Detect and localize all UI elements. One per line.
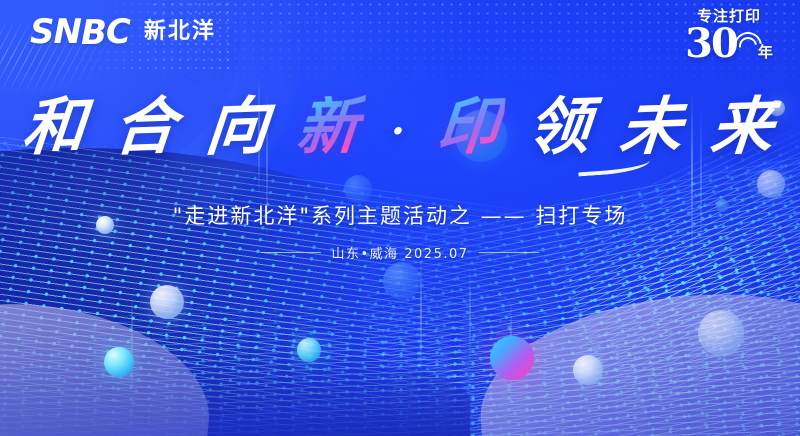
decorative-sphere bbox=[383, 262, 421, 300]
logo-text-b: B bbox=[81, 16, 106, 50]
anniversary-badge: 专注打印 30 年 bbox=[674, 8, 784, 64]
decorative-sphere-gradient bbox=[490, 336, 534, 380]
title-separator: · bbox=[391, 112, 409, 152]
event-banner: SNBC 新北洋 专注打印 30 年 和 合 向 新 · 印 领 未 来 "走进… bbox=[0, 0, 800, 436]
title-char-7: 未 bbox=[617, 95, 689, 159]
title-char-3: 向 bbox=[203, 95, 275, 159]
main-title-block: 和 合 向 新 · 印 领 未 来 bbox=[0, 96, 800, 158]
title-char-8: 来 bbox=[709, 95, 781, 159]
title-char-1: 和 bbox=[20, 95, 92, 159]
event-location-date: 山东•威海 2025.07 bbox=[331, 243, 468, 262]
brand-logo[interactable]: SNBC 新北洋 bbox=[30, 15, 216, 49]
title-char-6: 领 bbox=[525, 95, 597, 159]
badge-number: 30 bbox=[685, 24, 737, 64]
decorative-sphere bbox=[573, 355, 603, 385]
title-char-4: 新 bbox=[295, 95, 367, 159]
meta-rule-right bbox=[479, 252, 539, 253]
decorative-sphere bbox=[297, 338, 321, 362]
brand-chinese-name: 新北洋 bbox=[144, 21, 216, 43]
arc-swirl-icon bbox=[734, 30, 764, 64]
title-char-2: 合 bbox=[111, 95, 183, 159]
logo-text-sn: SN bbox=[30, 12, 81, 52]
meta-rule-left bbox=[261, 252, 321, 253]
decorative-sphere bbox=[150, 285, 184, 319]
decorative-sphere bbox=[344, 175, 372, 203]
snbc-logo-icon: SNBC bbox=[30, 15, 130, 49]
logo-text-c: C bbox=[106, 12, 130, 52]
decorative-sphere bbox=[698, 310, 744, 356]
decorative-sphere bbox=[757, 170, 785, 198]
title-char-5: 印 bbox=[434, 95, 506, 159]
badge-number-row: 30 年 bbox=[674, 24, 784, 64]
decorative-sphere bbox=[104, 347, 134, 377]
subtitle: "走进新北洋"系列主题活动之 —— 扫打专场 bbox=[0, 200, 800, 230]
page-title: 和 合 向 新 · 印 领 未 来 bbox=[23, 96, 778, 158]
event-meta-bar: 山东•威海 2025.07 bbox=[0, 243, 800, 262]
